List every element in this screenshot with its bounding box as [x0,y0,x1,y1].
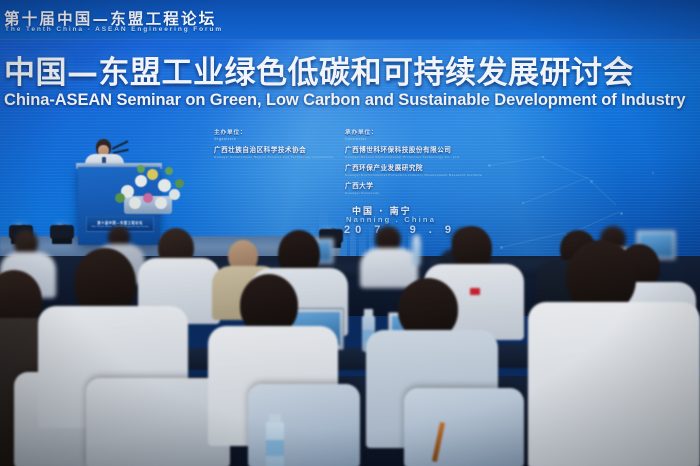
cohost-organizer-heading-cn: 承办单位： [345,128,482,136]
host-organizer-heading-cn: 主办单位： [214,128,334,136]
person-torso [360,248,418,288]
bottle-label [266,440,284,456]
forum-name-english: The Tenth China - ASEAN Engineering Foru… [5,26,223,33]
venue-city-english: Nanning . China [346,215,436,224]
conference-chair [248,384,360,466]
water-bottle [412,240,421,266]
person-torso [528,302,700,466]
cohost-organizer-name-1-cn: 广西博世科环保科技股份有限公司 [345,144,482,154]
host-organizer-heading-en: Organizers [214,137,334,141]
seminar-title-chinese: 中国—东盟工业绿色低碳和可持续发展研讨会 [4,58,700,89]
bottle-cap [364,309,373,317]
cohost-organizer-heading-en: Contractor [345,137,482,141]
cohost-organizer-name-3-en: Guangxi University [345,191,482,195]
seminar-title-english: China-ASEAN Seminar on Green, Low Carbon… [4,92,700,109]
conference-photo: 第十届中国—东盟工程论坛 The Tenth China - ASEAN Eng… [0,0,700,466]
podium-sign-cn: 第十届中国—东盟工程论坛 [97,220,143,225]
cohost-organizer-name-2-en: Guangxi Environmental Protection Industr… [345,173,482,177]
host-organizer-name-en: Guangxi Autonomous Region Science and Te… [214,155,334,159]
cohost-organizer-name-3-cn: 广西大学 [345,180,482,190]
flower-arrangement [113,163,185,209]
host-organizer-block: 主办单位： Organizers 广西壮族自治区科学技术协会 Guangxi A… [214,128,334,159]
bottle-cap [413,235,420,241]
flag-pin [470,288,480,295]
audience-area [0,226,700,466]
cohost-organizer-name-2-cn: 广西环保产业发展研究院 [345,162,482,172]
host-organizer-name-cn: 广西壮族自治区科学技术协会 [214,144,334,154]
bottle-cap [269,414,281,423]
cohost-organizer-name-1-en: Guangxi Bossco Environmental Protection … [345,155,482,159]
water-bottle [266,422,284,466]
cohost-organizer-block: 承办单位： Contractor 广西博世科环保科技股份有限公司 Guangxi… [345,128,482,195]
conference-chair [404,388,524,466]
